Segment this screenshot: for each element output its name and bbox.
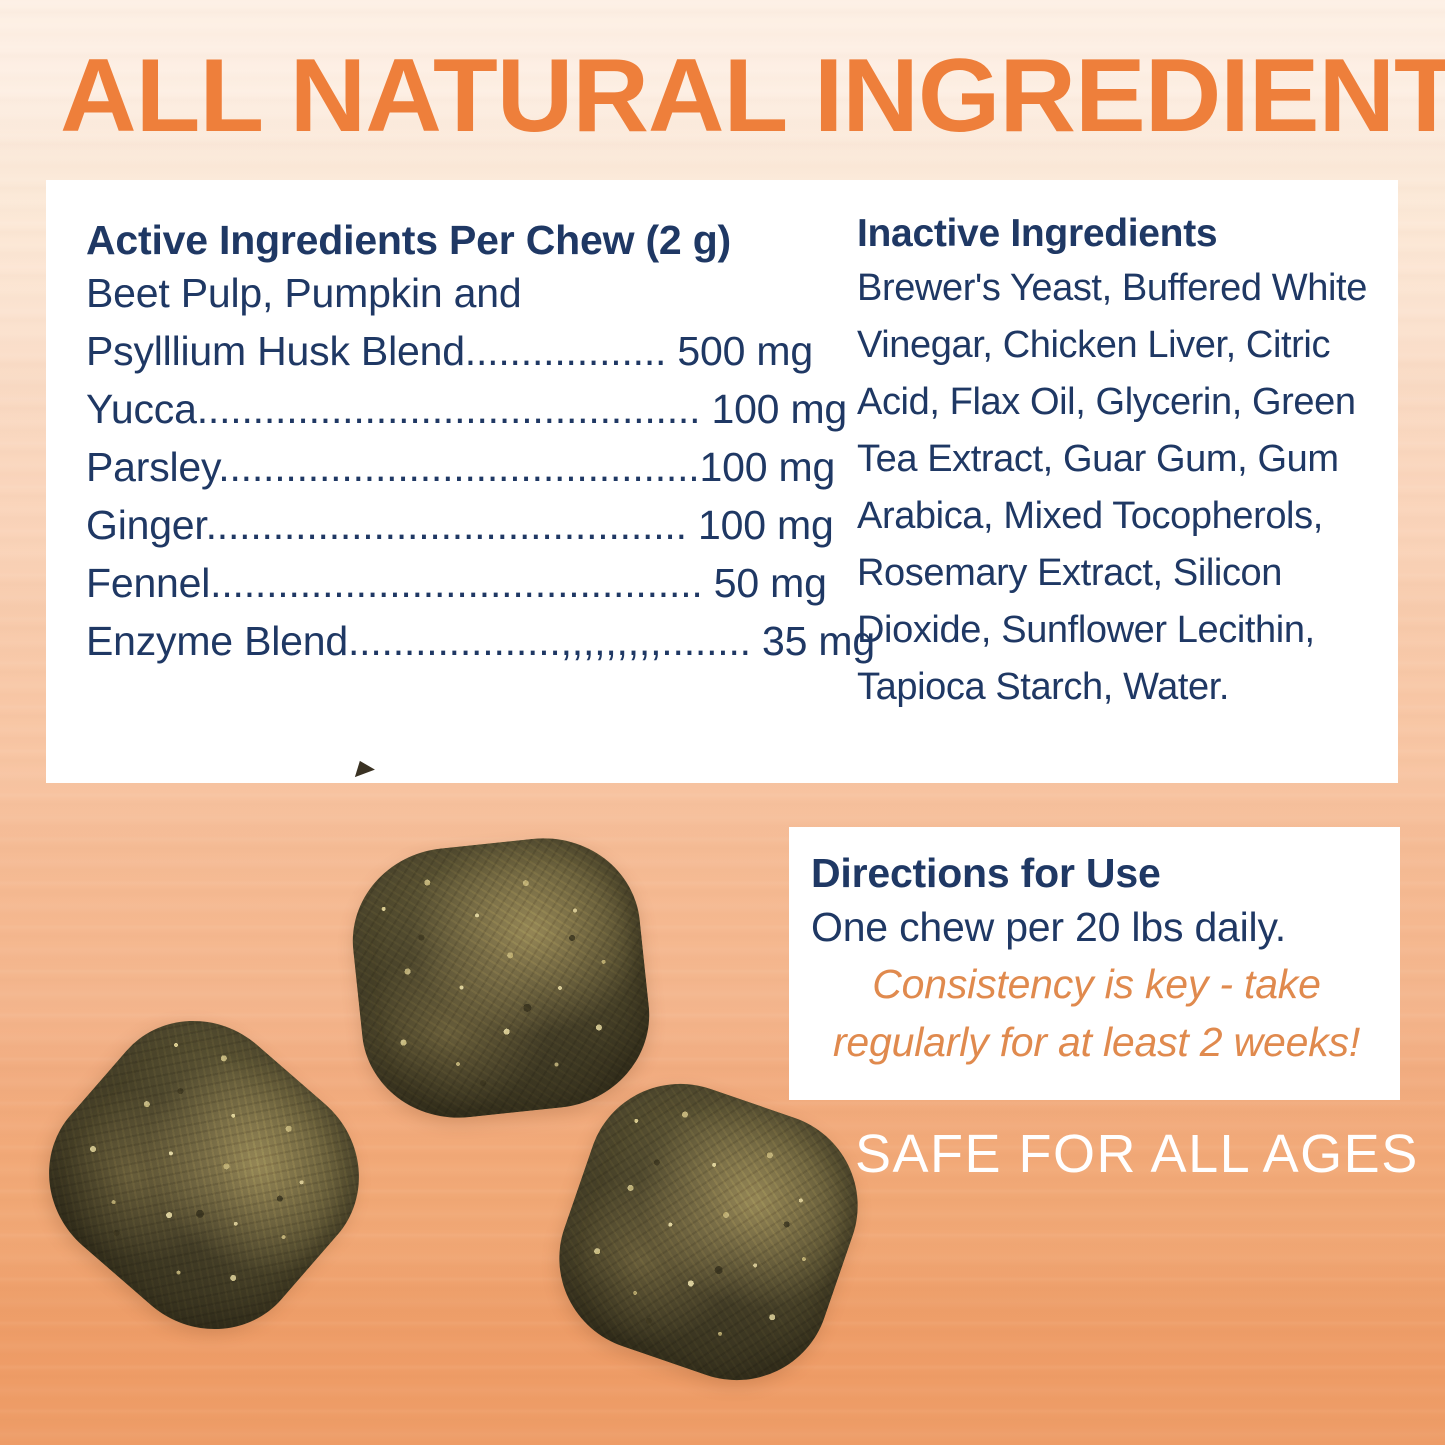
- inactive-ingredients-heading: Inactive Ingredients: [857, 210, 1370, 258]
- chew-treat-top: [344, 829, 659, 1128]
- active-ingredient-line: Ginger..................................…: [86, 496, 836, 554]
- directions-card: Directions for Use One chew per 20 lbs d…: [789, 827, 1400, 1100]
- ingredients-panel: Active Ingredients Per Chew (2 g) Beet P…: [46, 180, 1398, 783]
- directions-note-line-2: regularly for at least 2 weeks!: [811, 1013, 1382, 1071]
- active-ingredient-line: Enzyme Blend...................,,,,,,,,,…: [86, 612, 836, 670]
- active-ingredient-line: Beet Pulp, Pumpkin and: [86, 264, 836, 322]
- page-title: ALL NATURAL INGREDIENTS: [60, 44, 1427, 148]
- directions-note-line-1: Consistency is key - take: [811, 955, 1382, 1013]
- chew-treat-bottom: [534, 1059, 883, 1406]
- active-ingredient-line: Psylllium Husk Blend.................. 5…: [86, 322, 836, 380]
- directions-heading: Directions for Use: [811, 847, 1382, 899]
- directions-dose-text: One chew per 20 lbs daily.: [811, 899, 1382, 955]
- product-infographic: ALL NATURAL INGREDIENTS Active Ingredien…: [0, 0, 1445, 1445]
- active-ingredients-list: Beet Pulp, Pumpkin and Psylllium Husk Bl…: [86, 264, 836, 670]
- inactive-ingredients-column: Inactive Ingredients Brewer's Yeast, Buf…: [836, 180, 1398, 783]
- safe-for-all-ages-badge: SAFE FOR ALL AGES: [855, 1124, 1419, 1184]
- active-ingredient-line: Parsley.................................…: [86, 438, 836, 496]
- inactive-ingredients-body: Brewer's Yeast, Buffered White Vinegar, …: [857, 260, 1370, 716]
- active-ingredients-column: Active Ingredients Per Chew (2 g) Beet P…: [46, 180, 836, 783]
- active-ingredient-line: Fennel..................................…: [86, 554, 836, 612]
- active-ingredients-heading: Active Ingredients Per Chew (2 g): [86, 216, 836, 264]
- chew-treat-left: [11, 983, 397, 1367]
- active-ingredient-line: Yucca...................................…: [86, 380, 836, 438]
